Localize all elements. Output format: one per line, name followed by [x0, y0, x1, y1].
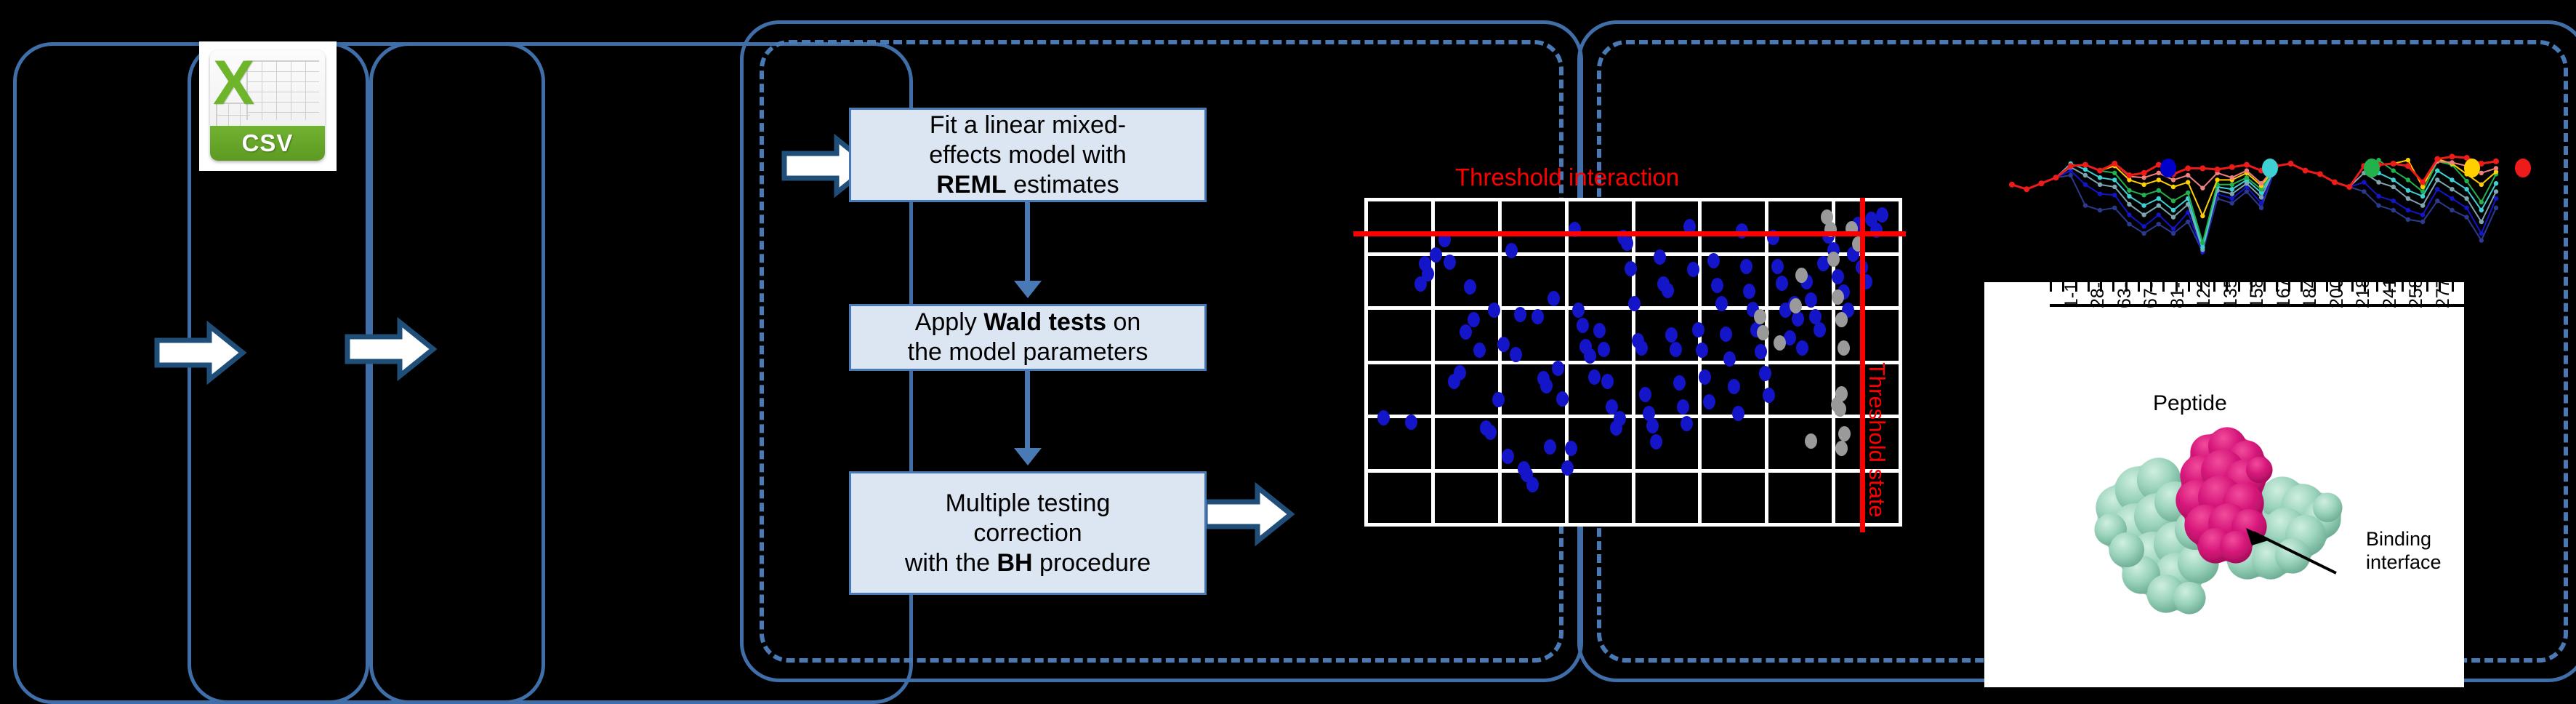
- bh-line-1: Multiple testing: [946, 489, 1111, 517]
- peptide-series-marker: [2317, 171, 2323, 177]
- connector-wald-to-bh: [1025, 371, 1030, 451]
- peptide-series-marker: [2494, 196, 2498, 201]
- peptide-series-marker: [2098, 191, 2102, 196]
- peptide-series-marker: [2171, 226, 2175, 231]
- volcano-data-point: [1646, 418, 1659, 433]
- peptide-series-marker: [2479, 200, 2484, 204]
- volcano-data-point: [1510, 347, 1522, 362]
- volcano-data-point: [1654, 249, 1666, 265]
- volcano-data-point: [1492, 392, 1505, 407]
- peptide-series-marker: [2157, 188, 2161, 193]
- volcano-data-point: [1614, 411, 1626, 426]
- peptide-series-marker: [2230, 187, 2234, 191]
- x-axis-label: 81-101: [2168, 282, 2189, 308]
- volcano-data-point: [1593, 323, 1606, 338]
- wald-line-1-pre: Apply: [915, 308, 984, 336]
- peptide-series-marker: [2127, 222, 2131, 226]
- peptide-series-marker: [2244, 162, 2250, 168]
- volcano-data-point: [1473, 343, 1486, 358]
- volcano-data-point: [1547, 291, 1560, 306]
- peptide-series-marker: [2157, 177, 2161, 182]
- peptide-series-marker: [2259, 206, 2263, 210]
- peptide-series-marker: [2112, 161, 2117, 167]
- peptide-series-marker: [2332, 180, 2338, 185]
- volcano-gridline-horizontal: [1364, 198, 1902, 201]
- peptide-series-marker: [2157, 203, 2161, 207]
- peptide-series-marker: [2171, 185, 2175, 189]
- peptide-series-marker: [2450, 187, 2454, 191]
- reml-line-1: Fit a linear mixed-: [930, 111, 1126, 139]
- peptide-series-marker: [2435, 177, 2439, 182]
- peptide-series-marker: [2083, 183, 2088, 187]
- x-axis-label: 277-284: [2433, 282, 2454, 308]
- peptide-legend-dot: [2364, 159, 2380, 177]
- volcano-data-point: [1464, 279, 1476, 295]
- x-axis-label: 67-75: [2141, 282, 2162, 308]
- y-axis-tick-label: 0.01: [1992, 282, 2032, 285]
- volcano-data-point: [1561, 460, 1574, 476]
- peptide-series-marker: [2082, 162, 2088, 168]
- peptide-series-marker: [2141, 212, 2146, 217]
- reml-line-2: effects model with: [929, 141, 1127, 169]
- peptide-series-marker: [2200, 241, 2205, 245]
- peptide-series-marker: [2068, 163, 2074, 169]
- volcano-data-point: [1514, 307, 1526, 322]
- x-axis-label: 258-266: [2406, 282, 2427, 308]
- peptide-series-marker: [2259, 195, 2263, 199]
- x-axis-label: 241-257: [2380, 282, 2401, 308]
- peptide-series-marker: [2171, 177, 2175, 182]
- peptide-series-marker: [2420, 189, 2425, 193]
- volcano-data-point: [1662, 283, 1674, 298]
- peptide-series-marker: [2391, 208, 2396, 212]
- peptide-series-marker: [2112, 177, 2117, 182]
- volcano-data-point: [1454, 365, 1466, 380]
- volcano-data-point: [1488, 303, 1500, 318]
- peptide-line-chart-svg: [1992, 135, 2500, 262]
- peptide-series-marker: [2494, 166, 2498, 170]
- volcano-data-point: [1743, 284, 1755, 299]
- reml-bold-term: REML: [936, 171, 1006, 199]
- x-axis-tick: [2162, 282, 2165, 292]
- peptide-series-marker: [2434, 156, 2440, 162]
- volcano-data-point: [1771, 259, 1784, 274]
- peptide-series-marker: [2171, 215, 2175, 219]
- step-box-reml[interactable]: Fit a linear mixed- effects model with R…: [849, 108, 1207, 202]
- peptide-series-marker: [2141, 183, 2146, 187]
- volcano-data-point: [1544, 439, 1556, 455]
- peptide-series-marker: [2200, 214, 2205, 218]
- peptide-series-marker: [2024, 186, 2029, 192]
- peptide-series-marker: [2186, 180, 2190, 184]
- peptide-series-marker: [2127, 202, 2131, 207]
- volcano-data-point: [1552, 361, 1564, 376]
- peptide-series-marker: [2391, 168, 2396, 172]
- binding-interface-label: Binding interface: [2366, 527, 2442, 574]
- x-axis-label: 184-199: [2300, 282, 2321, 308]
- x-axis-tick: [2376, 282, 2378, 292]
- volcano-plot: Threshold interaction Threshold state: [1346, 145, 1920, 560]
- peptide-series-marker: [2215, 177, 2219, 182]
- peptide-series-marker: [2406, 158, 2410, 162]
- volcano-data-point: [1699, 369, 1711, 385]
- peptide-series-marker: [2479, 183, 2484, 187]
- peptide-series-marker: [2406, 217, 2410, 222]
- volcano-data-point: [1814, 322, 1826, 337]
- peptide-series-marker: [2199, 165, 2205, 171]
- volcano-data-point: [1796, 340, 1808, 356]
- peptide-series-marker: [2141, 193, 2146, 197]
- connector-arrowhead-wald-to-bh: [1014, 448, 1042, 465]
- volcano-data-point: [1484, 425, 1497, 440]
- peptide-series-marker: [2464, 179, 2468, 183]
- volcano-data-point: [1876, 207, 1888, 223]
- volcano-title: Threshold interaction: [1455, 164, 1679, 191]
- wald-bold-term: Wald tests: [983, 308, 1106, 336]
- volcano-data-point: [1763, 388, 1775, 403]
- volcano-gridline-horizontal: [1364, 523, 1902, 527]
- csv-icon-card: X CSV: [210, 50, 325, 161]
- volcano-data-point: [1728, 379, 1740, 394]
- volcano-data-point: [1531, 309, 1544, 324]
- peptide-legend-dot: [2160, 159, 2176, 177]
- peptide-series-marker: [2127, 194, 2131, 199]
- volcano-data-point: [1832, 269, 1844, 284]
- peptide-series-marker: [2450, 177, 2454, 182]
- volcano-data-point: [1805, 292, 1817, 308]
- peptide-series-marker: [2230, 201, 2234, 205]
- peptide-series-marker: [2303, 168, 2309, 174]
- peptide-series-marker: [2186, 220, 2190, 224]
- volcano-data-point: [1505, 243, 1518, 258]
- peptide-series-marker: [2406, 208, 2410, 212]
- csv-extension-band: CSV: [210, 126, 325, 161]
- threshold-interaction-line: [1353, 231, 1906, 236]
- peptide-series-marker: [2420, 220, 2425, 224]
- volcano-data-point: [1835, 312, 1848, 327]
- volcano-data-point: [1556, 391, 1569, 407]
- peptide-series-marker: [2391, 161, 2396, 167]
- peptide-series-marker: [2112, 185, 2117, 189]
- step-box-wald[interactable]: Apply Wald tests on the model parameters: [849, 304, 1207, 371]
- peptide-series-marker: [2391, 199, 2396, 203]
- csv-file-icon: X CSV: [199, 41, 337, 171]
- peptide-series-marker: [2435, 168, 2439, 172]
- peptide-series-marker: [2494, 189, 2498, 193]
- protein-structure-image: [2066, 420, 2356, 631]
- x-axis-tick: [2402, 282, 2404, 292]
- peptide-series-marker: [2376, 180, 2380, 184]
- peptide-series-marker: [2141, 203, 2146, 207]
- volcano-data-point: [1584, 348, 1596, 364]
- peptide-series-marker: [2009, 182, 2015, 188]
- peptide-series-marker: [2464, 206, 2468, 210]
- diagram-canvas: X CSV Fit a linear mixed- effects model: [0, 0, 2576, 687]
- spreadsheet-grid-icon: [246, 60, 319, 120]
- peptide-series-marker: [2362, 189, 2366, 193]
- volcano-data-point: [1703, 394, 1715, 409]
- peptide-series-marker: [2435, 187, 2439, 191]
- peptide-series-marker: [2229, 164, 2235, 170]
- peptide-series-marker: [2157, 212, 2161, 217]
- volcano-data-point: [1497, 337, 1510, 352]
- volcano-data-point: [1673, 375, 1686, 391]
- peptide-series-marker: [2391, 185, 2396, 189]
- x-axis-label: 135-144: [2221, 282, 2242, 308]
- volcano-data-point: [1601, 374, 1614, 389]
- reml-line-3-rest: estimates: [1007, 171, 1119, 199]
- peptide-series-marker: [2245, 175, 2249, 180]
- peptide-series-marker: [2245, 168, 2249, 172]
- peptide-series-marker: [2450, 196, 2454, 201]
- peptide-series-marker: [2420, 185, 2425, 189]
- csv-icon-sheet: X: [210, 50, 325, 126]
- peptide-series-marker: [2186, 173, 2190, 177]
- x-axis-title: Peptide: [2153, 391, 2227, 416]
- peptide-series-marker: [2376, 203, 2380, 207]
- volcano-data-point: [1715, 296, 1728, 311]
- peptide-legend-dot: [2262, 159, 2278, 177]
- peptide-series-marker: [2479, 231, 2484, 236]
- block-arrow-csv-to-stats: [343, 316, 438, 382]
- peptide-series-marker: [2450, 208, 2454, 212]
- block-arrow-stats-to-volcano: [1201, 481, 1295, 547]
- binding-label-line-1: Binding: [2366, 527, 2442, 551]
- peptide-series-marker: [2098, 183, 2102, 187]
- peptide-series-marker: [2420, 194, 2425, 199]
- peptide-series-marker: [2200, 245, 2205, 249]
- peptide-series-marker: [2245, 189, 2249, 193]
- peptide-series-marker: [2435, 199, 2439, 203]
- peptide-series-marker: [2464, 215, 2468, 219]
- peptide-series-marker: [2287, 161, 2293, 167]
- peptide-series-marker: [2141, 224, 2146, 228]
- peptide-series-marker: [2405, 163, 2411, 169]
- x-axis-label: 1-15: [2061, 282, 2082, 308]
- x-axis-label: 63-73: [2114, 282, 2136, 308]
- peptide-series-marker: [2449, 153, 2455, 159]
- volcano-data-point: [1776, 276, 1788, 291]
- peptide-series-marker: [2362, 180, 2366, 184]
- volcano-gridline-horizontal: [1364, 361, 1902, 364]
- peptide-series-marker: [2171, 231, 2175, 236]
- volcano-data-point: [1692, 322, 1704, 337]
- volcano-data-point: [1759, 366, 1771, 381]
- volcano-data-point: [1577, 318, 1589, 333]
- x-axis-tick: [2050, 282, 2052, 292]
- peptide-series-marker: [2200, 185, 2205, 190]
- volcano-data-point: [1754, 309, 1766, 324]
- volcano-data-point: [1757, 325, 1769, 340]
- peptide-series-marker: [2479, 220, 2484, 224]
- x-axis-label: 200-214: [2327, 282, 2348, 308]
- volcano-data-point: [1526, 477, 1539, 492]
- volcano-data-point: [1639, 387, 1651, 402]
- volcano-data-point: [1572, 303, 1585, 318]
- x-axis-label: 158-166: [2247, 282, 2268, 308]
- volcano-data-point: [1540, 378, 1553, 393]
- x-axis-label: 122-129: [2194, 282, 2215, 308]
- volcano-data-point: [1795, 268, 1808, 283]
- wald-line-2: the model parameters: [908, 338, 1148, 366]
- peptide-series-marker: [2479, 238, 2484, 242]
- volcano-data-point: [1707, 253, 1720, 268]
- peptide-series-marker: [2259, 201, 2263, 205]
- peptide-series-marker: [2171, 199, 2175, 203]
- peptide-series-marker: [2494, 206, 2498, 210]
- peptide-series-marker: [2420, 203, 2425, 207]
- peptide-series-marker: [2141, 231, 2146, 236]
- peptide-series-marker: [2053, 175, 2059, 180]
- volcano-gridline-horizontal: [1364, 252, 1902, 256]
- bh-line-3-pre: with the: [905, 549, 997, 577]
- connector-reml-to-wald: [1025, 202, 1030, 284]
- peptide-series-marker: [2420, 180, 2426, 185]
- peptide-series-marker: [2479, 208, 2484, 212]
- volcano-data-point: [1792, 311, 1804, 327]
- peptide-series-marker: [2230, 175, 2234, 180]
- volcano-data-point: [1650, 434, 1662, 449]
- peptide-legend-dot: [2515, 159, 2531, 177]
- volcano-data-point: [1740, 259, 1752, 274]
- volcano-vertical-label: Threshold state: [1864, 362, 1890, 518]
- volcano-data-point: [1444, 255, 1456, 270]
- volcano-data-point: [1720, 327, 1732, 342]
- peptide-series-marker: [2230, 183, 2234, 187]
- volcano-data-point: [1827, 252, 1840, 267]
- binding-label-line-2: interface: [2366, 551, 2442, 574]
- peptide-series-marker: [2259, 181, 2263, 185]
- peptide-series-marker: [2494, 181, 2498, 185]
- peptide-series-marker: [2126, 172, 2132, 178]
- peptide-series-marker: [2391, 177, 2396, 182]
- volcano-data-point: [1635, 340, 1648, 356]
- peptide-series-marker: [2420, 212, 2425, 217]
- peptide-series-marker: [2479, 171, 2484, 175]
- volcano-data-point: [1732, 406, 1744, 421]
- peptide-series-marker: [2230, 191, 2234, 196]
- peptide-series-marker: [2083, 203, 2088, 207]
- bh-line-3-post: procedure: [1033, 549, 1151, 577]
- peptide-series-marker: [2112, 193, 2117, 197]
- peptide-series-marker: [2141, 170, 2147, 176]
- volcano-data-point: [1681, 416, 1693, 431]
- peptide-series-marker: [2038, 180, 2044, 186]
- peptide-series-marker: [2083, 167, 2088, 172]
- peptide-line-chart: [1992, 135, 2500, 262]
- step-box-bh[interactable]: Multiple testing correction with the BH …: [849, 471, 1207, 595]
- block-arrow-input-to-csv: [153, 320, 247, 385]
- bh-bold-term: BH: [997, 549, 1032, 577]
- x-axis-tick: [2138, 282, 2140, 292]
- peptide-series-marker: [2098, 208, 2102, 212]
- volcano-gridline-horizontal: [1364, 415, 1902, 418]
- volcano-data-point: [1696, 343, 1708, 358]
- peptide-axis-and-structure-card: 0.01 Peptide: [1984, 282, 2464, 687]
- volcano-data-point: [1565, 441, 1577, 456]
- volcano-data-point: [1598, 342, 1610, 357]
- peptide-series-line: [2012, 160, 2496, 243]
- volcano-data-point: [1723, 351, 1736, 367]
- volcano-data-point: [1711, 278, 1723, 293]
- volcano-data-point: [1665, 327, 1678, 343]
- peptide-series-marker: [2406, 177, 2410, 182]
- peptide-series-marker: [2185, 165, 2191, 171]
- peptide-series-marker: [2157, 222, 2161, 226]
- volcano-data-point: [1468, 312, 1480, 327]
- volcano-data-point: [1405, 415, 1417, 430]
- peptide-series-marker: [2157, 196, 2161, 201]
- peptide-series-marker: [2069, 173, 2073, 177]
- peptide-legend-dot: [2464, 159, 2480, 177]
- peptide-series-marker: [2230, 196, 2234, 201]
- volcano-data-point: [1588, 369, 1601, 385]
- peptide-series-marker: [2406, 188, 2410, 193]
- volcano-data-point: [1430, 247, 1442, 263]
- peptide-series-marker: [2112, 206, 2117, 210]
- peptide-series-marker: [2406, 196, 2410, 201]
- x-axis-label: 167-180: [2274, 282, 2295, 308]
- excel-x-icon: X: [213, 52, 254, 114]
- volcano-data-point: [1838, 340, 1850, 356]
- volcano-data-point: [1805, 433, 1817, 449]
- csv-extension-label: CSV: [242, 129, 294, 157]
- bh-line-2: correction: [973, 519, 1082, 547]
- peptide-series-marker: [2127, 188, 2131, 193]
- x-axis-label: 28-44: [2088, 282, 2109, 308]
- connector-arrowhead-reml-to-wald: [1014, 281, 1042, 298]
- peptide-series-marker: [2450, 160, 2454, 164]
- volcano-data-point: [1832, 289, 1844, 305]
- wald-line-1-post: on: [1106, 308, 1140, 336]
- volcano-data-point: [1774, 335, 1786, 351]
- peptide-series-marker: [2376, 194, 2380, 199]
- volcano-data-point: [1835, 441, 1848, 456]
- volcano-data-point: [1502, 449, 1514, 464]
- volcano-data-point: [1625, 261, 1637, 276]
- x-axis-label: 218-237: [2353, 282, 2374, 308]
- peptide-series-marker: [2493, 159, 2499, 164]
- volcano-gridline-horizontal: [1364, 469, 1902, 473]
- volcano-data-point: [1677, 399, 1689, 415]
- peptide-series-marker: [2083, 173, 2088, 177]
- peptide-series-marker: [2215, 167, 2221, 172]
- peptide-series-marker: [2464, 196, 2468, 201]
- peptide-series-marker: [2141, 175, 2146, 180]
- peptide-series-marker: [2127, 212, 2131, 217]
- peptide-series-marker: [2098, 175, 2102, 180]
- volcano-data-point: [1670, 342, 1682, 357]
- volcano-data-point: [1838, 426, 1851, 441]
- peptide-series-marker: [2097, 168, 2103, 174]
- peptide-series-marker: [2346, 184, 2352, 190]
- peptide-series-marker: [2171, 208, 2175, 212]
- volcano-plot-area: [1364, 198, 1902, 527]
- peptide-series-marker: [2186, 191, 2190, 195]
- peptide-series-marker: [2112, 171, 2117, 175]
- peptide-series-marker: [2464, 187, 2468, 191]
- volcano-data-point: [1377, 410, 1390, 425]
